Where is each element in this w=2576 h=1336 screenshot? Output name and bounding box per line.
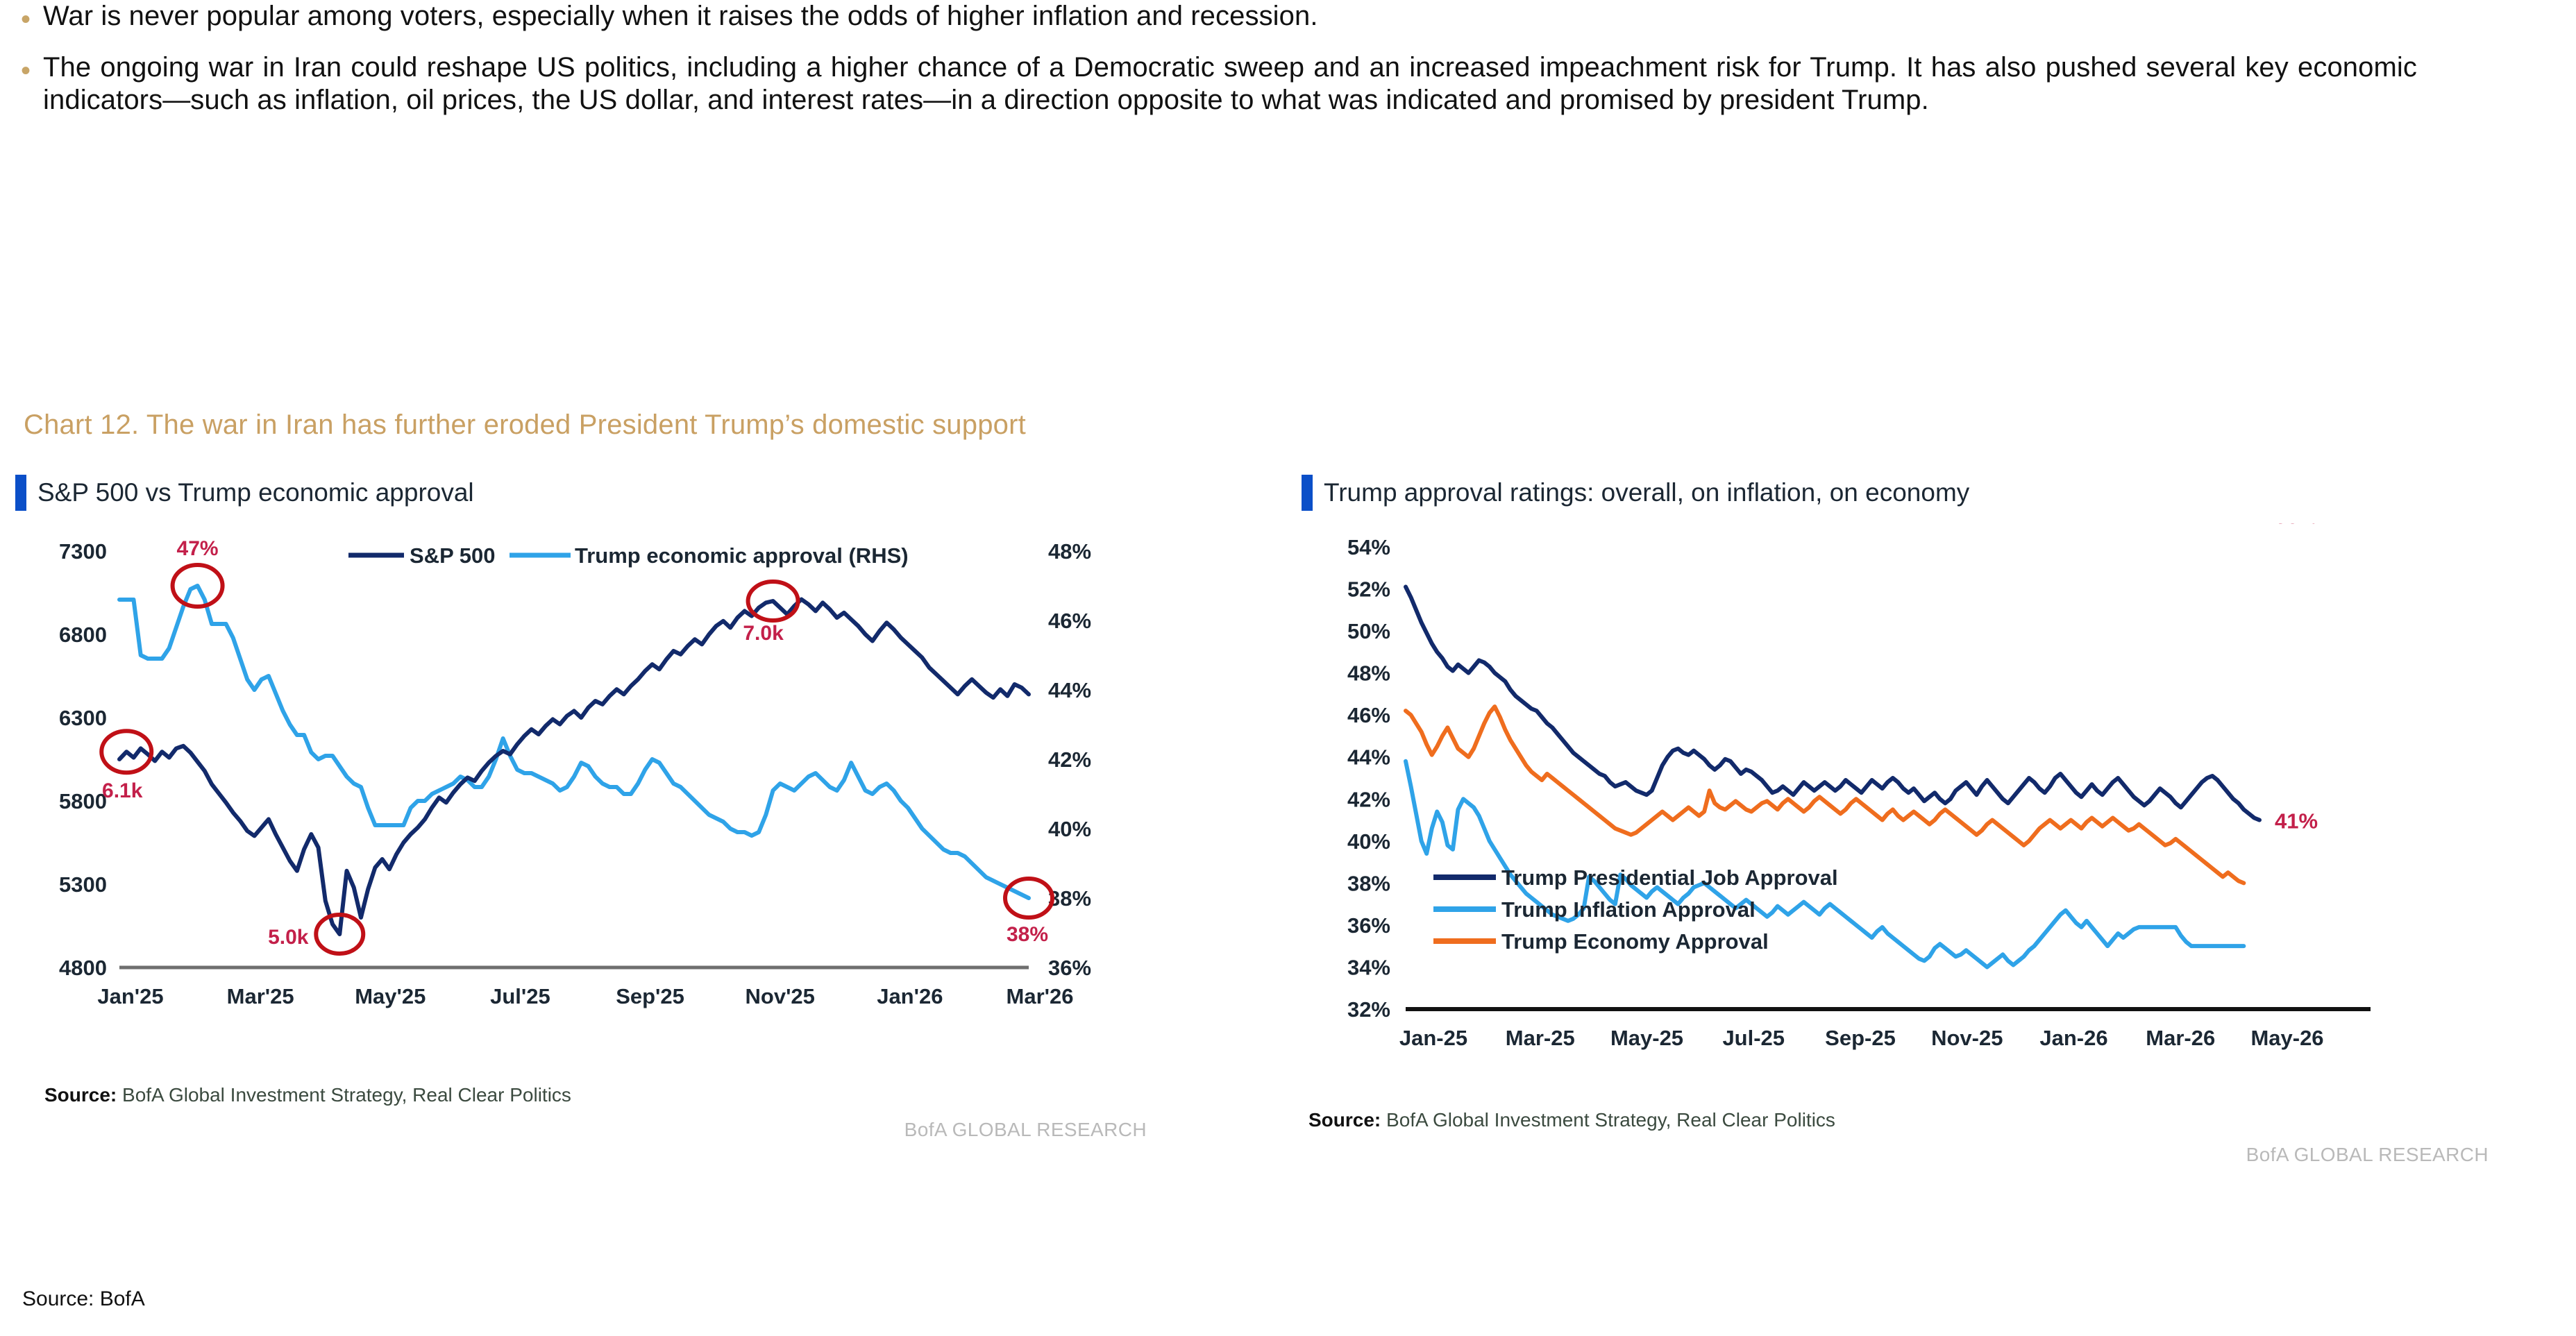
svg-text:Trump Economy Approval: Trump Economy Approval [1501,929,1769,954]
svg-text:May'25: May'25 [355,984,426,1008]
svg-text:46%: 46% [1048,609,1091,633]
svg-text:Mar-25: Mar-25 [1506,1026,1575,1050]
svg-text:52%: 52% [1347,577,1390,602]
svg-text:54%: 54% [1347,535,1390,559]
svg-text:36%: 36% [1048,956,1091,980]
svg-text:36%: 36% [1347,913,1390,938]
svg-text:4800: 4800 [59,956,107,980]
left-chart-panel: S&P 500 vs Trump economic approval 73006… [15,472,1209,1141]
svg-text:Trump Inflation Approval: Trump Inflation Approval [1501,897,1756,922]
left-watermark: BofA GLOBAL RESEARCH [15,1119,1147,1141]
left-source-line: Source: BofA Global Investment Strategy,… [44,1084,1209,1106]
svg-text:40%: 40% [1048,817,1091,841]
svg-text:Trump Presidential Job Approva: Trump Presidential Job Approval [1501,865,1838,890]
svg-text:41%: 41% [2275,809,2318,834]
chart-section-title: Chart 12. The war in Iran has further er… [24,409,1026,441]
svg-text:7300: 7300 [59,539,107,564]
svg-text:50%: 50% [1347,619,1390,643]
svg-text:44%: 44% [1048,678,1091,702]
svg-text:Jan-25: Jan-25 [1399,1026,1467,1050]
svg-text:35%: 35% [2275,523,2318,528]
svg-text:Jan'26: Jan'26 [877,984,943,1008]
svg-text:46%: 46% [1347,703,1390,727]
svg-text:May-26: May-26 [2250,1026,2323,1050]
svg-text:42%: 42% [1048,747,1091,772]
svg-text:Jul'25: Jul'25 [490,984,550,1008]
svg-text:42%: 42% [1347,787,1390,811]
svg-text:48%: 48% [1347,661,1390,686]
svg-text:38%: 38% [1347,871,1390,895]
svg-text:5800: 5800 [59,789,107,813]
svg-text:Mar'26: Mar'26 [1007,984,1074,1008]
page-source: Source: BofA [22,1287,145,1311]
left-panel-header: S&P 500 vs Trump economic approval [15,472,1209,514]
bullet-item: • War is never popular among voters, esp… [0,0,2576,33]
svg-text:5.0k: 5.0k [268,926,309,949]
svg-text:Jan'25: Jan'25 [97,984,163,1008]
left-panel-heading: S&P 500 vs Trump economic approval [37,478,474,507]
svg-text:S&P 500: S&P 500 [410,543,496,568]
svg-text:7.0k: 7.0k [743,622,784,645]
svg-text:48%: 48% [1048,539,1091,564]
bullet-item: • The ongoing war in Iran could reshape … [0,51,2576,117]
svg-text:Sep'25: Sep'25 [616,984,684,1008]
svg-text:Trump economic approval (RHS): Trump economic approval (RHS) [575,543,909,568]
svg-text:38%: 38% [1007,923,1048,946]
bullet-dot-icon: • [21,57,31,85]
left-plot: 73006800630058005300480048%46%44%42%40%3… [15,523,1209,1079]
bullet-text: The ongoing war in Iran could reshape US… [43,51,2417,117]
bullet-dot-icon: • [21,6,31,33]
bullet-text: War is never popular among voters, espec… [43,0,2417,33]
svg-text:38%: 38% [1048,886,1091,911]
left-plot-svg: 73006800630058005300480048%46%44%42%40%3… [15,523,1195,1079]
svg-text:5300: 5300 [59,872,107,897]
svg-text:6.1k: 6.1k [102,779,143,802]
svg-text:40%: 40% [1347,829,1390,854]
accent-bar-icon [15,475,26,511]
right-watermark: BofA GLOBAL RESEARCH [1302,1144,2489,1166]
svg-text:47%: 47% [177,537,219,560]
svg-text:44%: 44% [1347,745,1390,770]
right-plot-svg: 54%52%50%48%46%44%42%40%38%36%34%32%Jan-… [1302,523,2523,1120]
svg-text:34%: 34% [1347,955,1390,979]
svg-text:Mar-26: Mar-26 [2146,1026,2215,1050]
svg-text:Mar'25: Mar'25 [227,984,294,1008]
svg-text:Nov'25: Nov'25 [746,984,815,1008]
svg-text:Jul-25: Jul-25 [1722,1026,1785,1050]
svg-text:Sep-25: Sep-25 [1825,1026,1896,1050]
svg-text:6800: 6800 [59,623,107,647]
left-source-text: BofA Global Investment Strategy, Real Cl… [122,1084,571,1106]
right-chart-panel: Trump approval ratings: overall, on infl… [1302,472,2544,1166]
right-panel-header: Trump approval ratings: overall, on infl… [1302,472,2544,514]
svg-text:Nov-25: Nov-25 [1931,1026,2003,1050]
accent-bar-icon [1302,475,1313,511]
svg-text:May-25: May-25 [1610,1026,1683,1050]
svg-text:32%: 32% [1347,997,1390,1022]
right-panel-heading: Trump approval ratings: overall, on infl… [1324,478,1969,507]
right-plot: 54%52%50%48%46%44%42%40%38%36%34%32%Jan-… [1302,523,2544,1120]
svg-text:6300: 6300 [59,706,107,730]
svg-text:Jan-26: Jan-26 [2039,1026,2107,1050]
bullet-list: • War is never popular among voters, esp… [0,0,2576,135]
left-source-label: Source: [44,1084,117,1106]
